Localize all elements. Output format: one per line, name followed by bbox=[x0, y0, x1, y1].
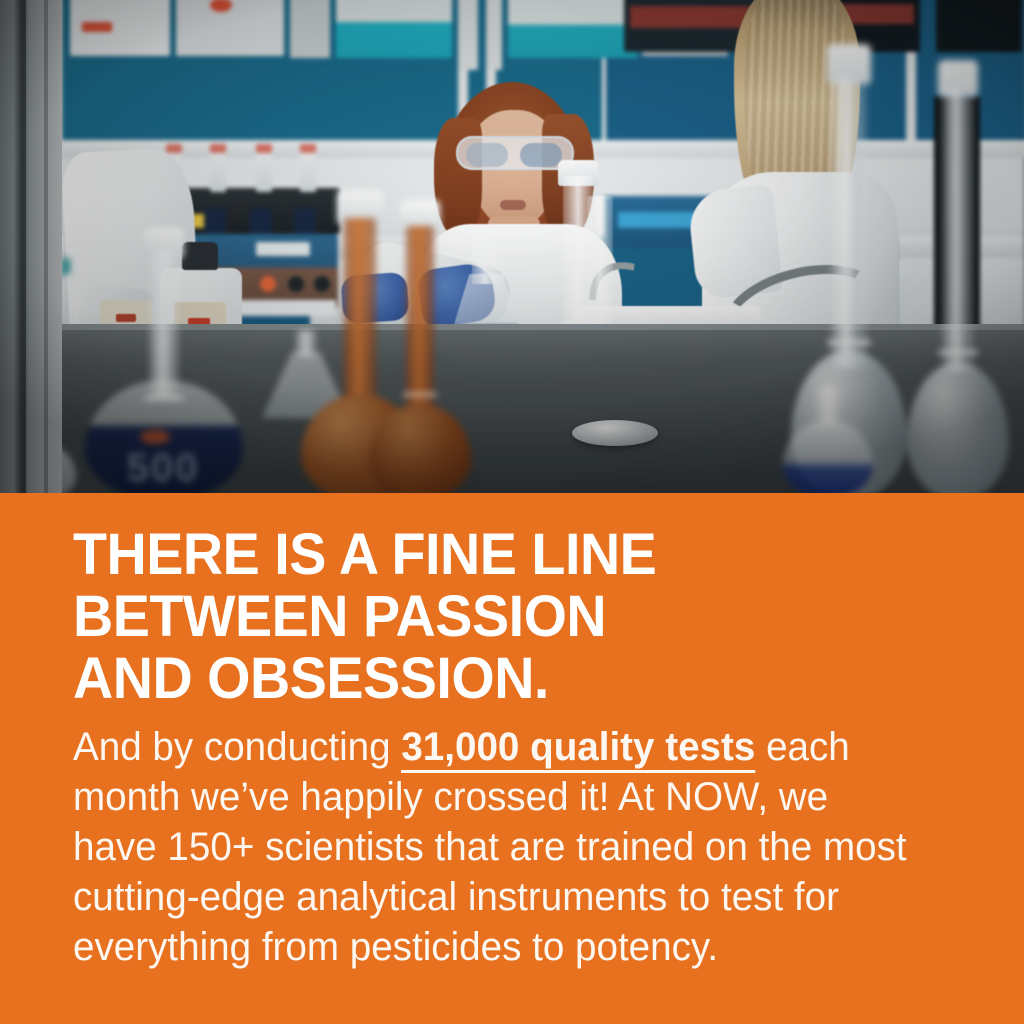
social-graphic-card: 500 bbox=[0, 0, 1024, 1024]
orange-message-panel: THERE IS A FINE LINE BETWEEN PASSION AND… bbox=[0, 493, 1024, 1024]
body-copy: And by conducting 31,000 quality tests e… bbox=[73, 722, 922, 972]
headline-line-3: AND OBSESSION. bbox=[73, 648, 918, 710]
headline: THERE IS A FINE LINE BETWEEN PASSION AND… bbox=[73, 524, 918, 710]
body-copy-lead: And by conducting bbox=[73, 725, 401, 769]
body-copy-emphasis: 31,000 quality tests bbox=[401, 725, 755, 773]
photo-vignette bbox=[0, 0, 1024, 493]
lab-photograph: 500 bbox=[0, 0, 1024, 493]
headline-line-1: THERE IS A FINE LINE bbox=[73, 524, 918, 586]
headline-line-2: BETWEEN PASSION bbox=[73, 586, 918, 648]
